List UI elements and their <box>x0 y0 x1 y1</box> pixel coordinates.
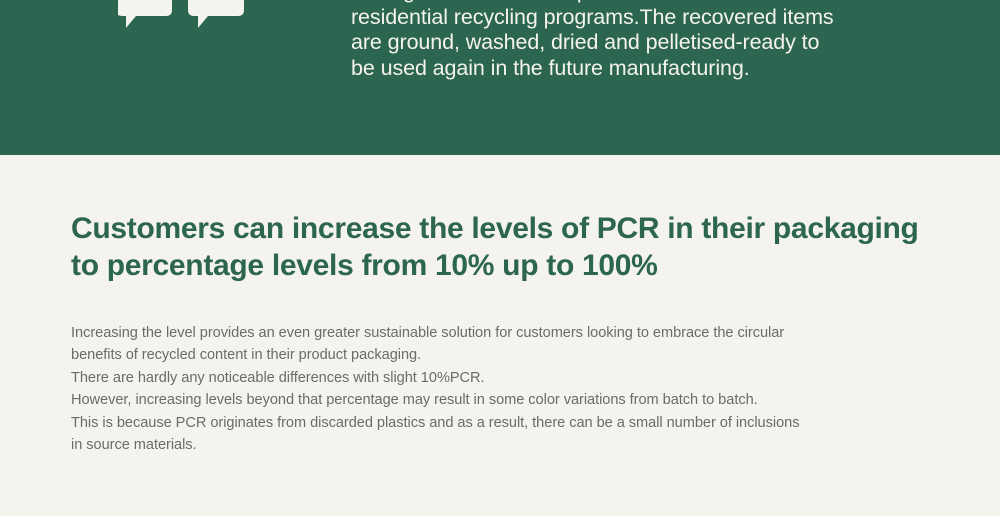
section-body-text: Increasing the level provides an even gr… <box>71 322 971 456</box>
section-body-line: benefits of recycled content in their pr… <box>71 344 971 366</box>
section-body-line: There are hardly any noticeable differen… <box>71 367 971 389</box>
hero-paragraph-line: residential recycling programs.The recov… <box>351 5 911 31</box>
content-section: Customers can increase the levels of PCR… <box>0 155 1000 516</box>
section-body-line: Increasing the level provides an even gr… <box>71 322 971 344</box>
green-hero-band: sorting of these discard plastics in com… <box>0 0 1000 155</box>
section-body-line: This is because PCR originates from disc… <box>71 412 971 434</box>
section-body-line: However, increasing levels beyond that p… <box>71 389 971 411</box>
speech-bubbles-icon <box>118 0 246 28</box>
section-body-line: in source materials. <box>71 434 971 456</box>
page-root: sorting of these discard plastics in com… <box>0 0 1000 516</box>
section-heading-line: Customers can increase the levels of PCR… <box>71 210 971 247</box>
hero-paragraph-line: are ground, washed, dried and pelletised… <box>351 30 911 56</box>
section-heading: Customers can increase the levels of PCR… <box>71 210 971 284</box>
section-heading-line: to percentage levels from 10% up to 100% <box>71 247 971 284</box>
hero-paragraph-line: be used again in the future manufacturin… <box>351 56 911 82</box>
hero-paragraph: sorting of these discard plastics in com… <box>351 0 911 81</box>
